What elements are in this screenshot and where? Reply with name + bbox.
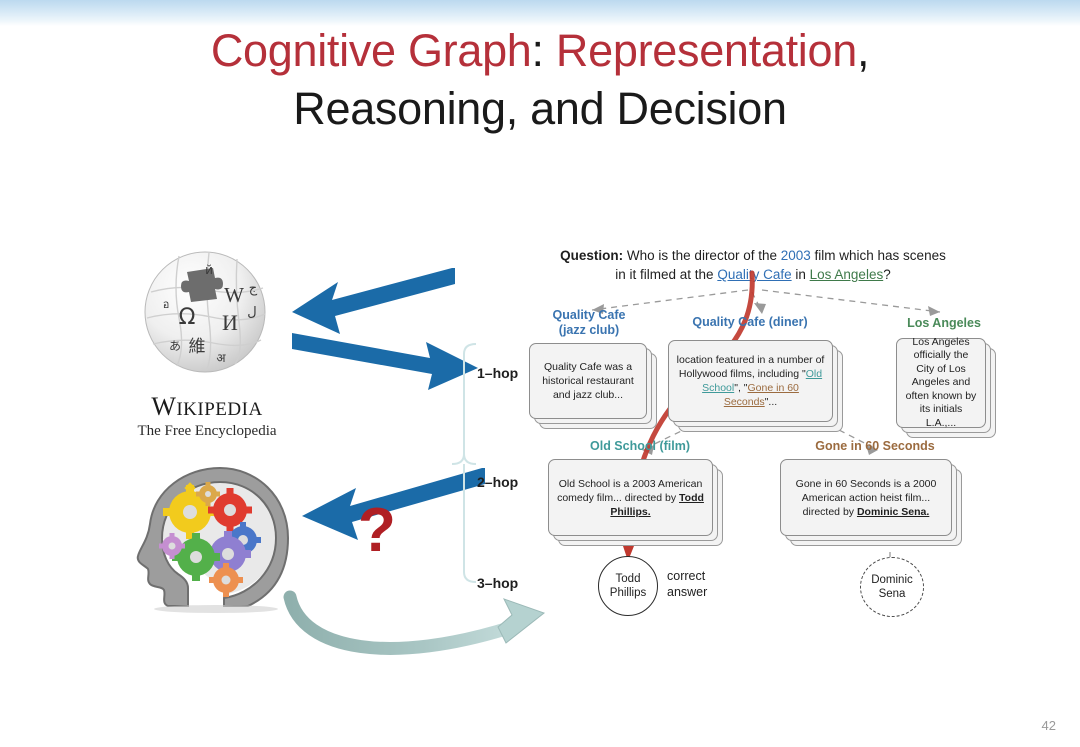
question-label: Question:	[560, 248, 623, 263]
node-body-gone60: Gone in 60 Seconds is a 2000 American ac…	[781, 473, 951, 523]
wikipedia-globe-icon: W Ω И 維 ل ج й อ あ अ	[135, 244, 279, 388]
question-year: 2003	[781, 248, 811, 263]
node-title-quality-cafe-jazz-club: Quality Cafe (jazz club)	[524, 308, 654, 338]
svg-text:W: W	[224, 283, 244, 307]
answer-dominic-line2: Sena	[871, 587, 913, 601]
head-gears-svg	[128, 462, 293, 612]
node-title-line1-la: Los Angeles	[880, 316, 1008, 331]
answer-dominic-line1: Dominic	[871, 573, 913, 587]
node-card-los-angeles[interactable]: Los Angeles officially the City of Los A…	[896, 338, 986, 428]
node-body-diner: location featured in a number of Hollywo…	[669, 349, 832, 413]
node-body-los-angeles: Los Angeles officially the City of Los A…	[897, 332, 985, 435]
head-with-gears-icon	[128, 462, 293, 612]
diner-body-post: "...	[765, 396, 777, 408]
title-part-representation: Representation	[544, 25, 857, 76]
node-title-quality-cafe-diner: Quality Cafe (diner)	[645, 315, 855, 330]
node-title-gone-in-60-seconds: Gone in 60 Seconds	[780, 439, 970, 454]
correct-answer-label: correct answer	[667, 568, 707, 600]
title-part-colon: :	[532, 25, 544, 76]
node-title-line1-jazz: Quality Cafe	[524, 308, 654, 323]
diner-body-pre: location featured in a number of Hollywo…	[677, 354, 825, 380]
node-title-line2-jazz: (jazz club)	[524, 323, 654, 338]
hop-label-3: 3–hop	[477, 575, 518, 591]
svg-text:й: й	[205, 263, 213, 277]
hop-label-2: 2–hop	[477, 474, 518, 490]
node-card-quality-cafe-jazz-club[interactable]: Quality Cafe was a historical restaurant…	[529, 343, 647, 419]
gone60-person-dominic-sena[interactable]: Dominic Sena.	[857, 506, 929, 518]
question-mark-glyph: ?	[358, 500, 396, 562]
correct-answer-line1: correct	[667, 568, 707, 584]
wikipedia-logo: W Ω И 維 ل ج й อ あ अ WIKIPEDIA The Free E…	[122, 244, 292, 440]
node-title-line1-oldschool: Old School (film)	[545, 439, 735, 454]
slide-canvas: Cognitive Graph: Representation, Reasoni…	[0, 0, 1080, 747]
svg-text:あ: あ	[169, 339, 181, 353]
title-part-cognitive-graph: Cognitive Graph	[211, 25, 532, 76]
title-part-comma: ,	[857, 25, 869, 76]
answer-todd-line1: Todd	[610, 572, 646, 586]
wikipedia-globe-svg: W Ω И 維 ل ج й อ あ अ	[135, 244, 279, 388]
svg-text:И: И	[222, 310, 238, 335]
answer-todd-line2: Phillips	[610, 586, 646, 600]
svg-text:ج: ج	[249, 281, 258, 296]
blue-arrow-left-top	[292, 268, 455, 334]
title-line-2: Reasoning, and Decision	[0, 80, 1080, 138]
correct-answer-line2: answer	[667, 584, 707, 600]
wikipedia-wordmark-rest: IKIPEDIA	[176, 399, 262, 420]
page-title: Cognitive Graph: Representation, Reasoni…	[0, 22, 1080, 138]
page-number: 42	[1042, 718, 1056, 733]
diner-body-mid: ", "	[734, 382, 747, 394]
hop-label-1: 1–hop	[477, 365, 518, 381]
svg-text:維: 維	[189, 337, 206, 357]
wikipedia-tagline: The Free Encyclopedia	[122, 423, 292, 440]
title-line-1: Cognitive Graph: Representation,	[0, 22, 1080, 80]
answer-node-todd-phillips[interactable]: Todd Phillips	[598, 556, 658, 616]
wikipedia-wordmark: WIKIPEDIA	[122, 392, 292, 422]
node-title-old-school-film: Old School (film)	[545, 439, 735, 454]
svg-text:อ: อ	[163, 298, 170, 311]
question-seg-1: Who is the director of the	[623, 248, 781, 263]
node-title-los-angeles: Los Angeles	[880, 316, 1008, 331]
node-card-quality-cafe-diner[interactable]: location featured in a number of Hollywo…	[668, 340, 833, 422]
node-card-gone-in-60-seconds[interactable]: Gone in 60 Seconds is a 2000 American ac…	[780, 459, 952, 536]
svg-text:Ω: Ω	[179, 305, 196, 330]
node-body-old-school: Old School is a 2003 American comedy fil…	[549, 473, 712, 523]
node-card-old-school-film[interactable]: Old School is a 2003 American comedy fil…	[548, 459, 713, 536]
svg-text:ل: ل	[247, 305, 256, 320]
node-title-line1-diner: Quality Cafe (diner)	[645, 315, 855, 330]
node-body-jazz-club: Quality Cafe was a historical restaurant…	[530, 356, 646, 406]
answer-node-dominic-sena[interactable]: Dominic Sena	[860, 557, 924, 617]
svg-text:अ: अ	[216, 351, 226, 365]
node-title-line1-gone60: Gone in 60 Seconds	[780, 439, 970, 454]
question-seg-2: film which has scenes	[811, 248, 946, 263]
wikipedia-wordmark-w: W	[151, 392, 176, 421]
